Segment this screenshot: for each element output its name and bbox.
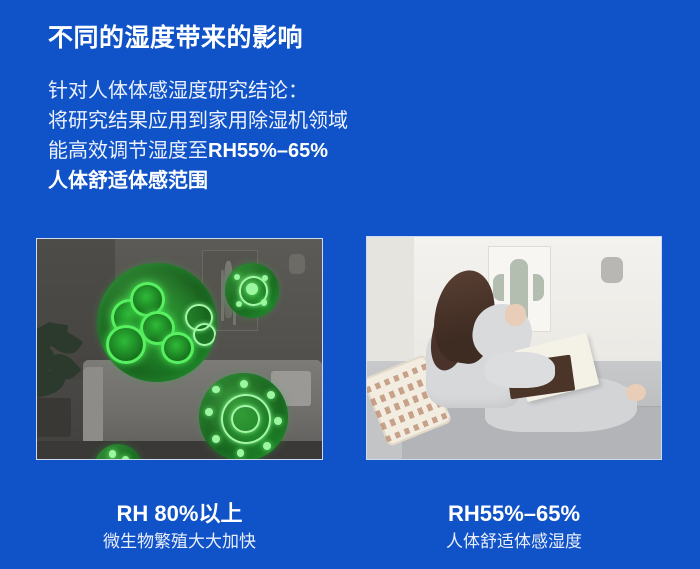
- microbe-spike: [263, 442, 271, 450]
- microbe-spike: [274, 417, 282, 425]
- house-plant: [36, 323, 88, 437]
- floor: [37, 441, 322, 459]
- body-line-3: 能高效调节湿度至RH55%–65%: [48, 136, 348, 166]
- body-line-2: 将研究结果应用到家用除湿机领域: [48, 106, 348, 136]
- microbe-spike: [212, 386, 220, 394]
- caption-right-sub: 人体舒适体感湿度: [366, 529, 662, 555]
- microbe-dot: [262, 275, 268, 281]
- microbe-cell: [161, 332, 193, 364]
- microbe-dot: [236, 301, 242, 307]
- microbe-spike: [267, 391, 275, 399]
- microbe-virus-lower: [199, 373, 287, 460]
- wall-speaker: [289, 254, 305, 274]
- caption-right-main: RH55%–65%: [366, 500, 662, 528]
- body-line-3-prefix: 能高效调节湿度至: [48, 140, 208, 162]
- microbe-dot: [122, 456, 129, 460]
- microbe-spike: [205, 408, 213, 416]
- microbe-cell: [106, 325, 146, 364]
- microbe-spike: [212, 435, 220, 443]
- caption-left-sub: 微生物繁殖大大加快: [36, 529, 323, 555]
- body-copy: 针对人体体感湿度研究结论： 将研究结果应用到家用除湿机领域 能高效调节湿度至RH…: [48, 76, 348, 196]
- microbe-small-upper: [225, 263, 279, 318]
- caption-left: RH 80%以上 微生物繁殖大大加快: [36, 500, 323, 555]
- microbe-ring: [193, 323, 216, 346]
- photo-left-microbes: [36, 238, 323, 460]
- microbe-dot: [234, 274, 240, 280]
- plant-pot: [36, 398, 71, 437]
- light-room-scene: [367, 237, 661, 459]
- body-line-1: 针对人体体感湿度研究结论：: [48, 76, 348, 106]
- wall-speaker: [601, 257, 623, 283]
- microbe-cluster-large: [97, 263, 217, 382]
- body-line-4: 人体舒适体感范围: [48, 166, 348, 196]
- microbe-spike: [240, 380, 248, 388]
- page-title: 不同的湿度带来的影响: [48, 18, 303, 54]
- caption-right: RH55%–65% 人体舒适体感湿度: [366, 500, 662, 555]
- body-line-3-highlight: RH55%–65%: [208, 140, 328, 162]
- photo-right-comfort: [366, 236, 662, 460]
- wall-panel: [367, 237, 414, 375]
- microbe-dot: [109, 450, 117, 458]
- caption-left-main: RH 80%以上: [36, 500, 323, 528]
- woman-hand: [505, 304, 526, 326]
- woman-forward-arm: [485, 352, 556, 388]
- dark-room-scene: [37, 239, 322, 459]
- poster-root: 不同的湿度带来的影响 针对人体体感湿度研究结论： 将研究结果应用到家用除湿机领域…: [0, 0, 700, 569]
- microbe-spike: [237, 449, 245, 457]
- microbe-dot: [261, 299, 267, 305]
